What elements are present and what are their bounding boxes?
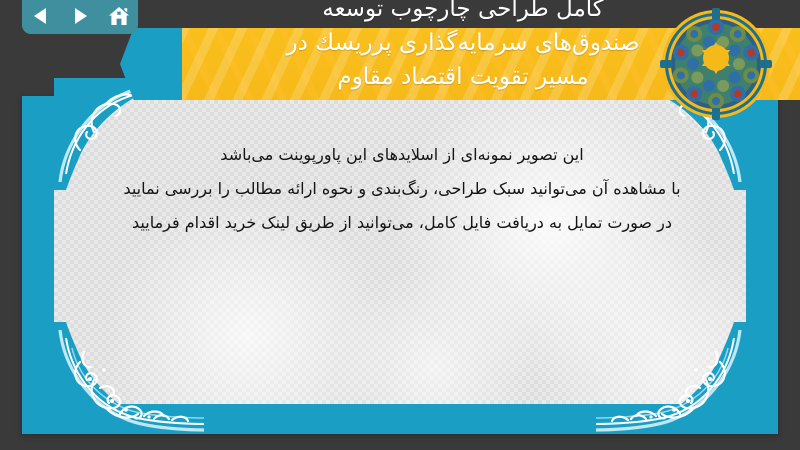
title-band-tail [120, 28, 182, 100]
slide-stage: کامل طراحی چارچوب توسعه صندوق‌های سرمایه… [0, 0, 800, 450]
next-button[interactable] [67, 4, 93, 28]
navigation-bar [22, 0, 138, 34]
home-icon [108, 6, 130, 27]
content-card: این تصویر نمونه‌ای از اسلایدهای این پاور… [22, 96, 778, 434]
body-line-1: این تصویر نمونه‌ای از اسلایدهای این پاور… [82, 138, 722, 172]
previous-button[interactable] [28, 4, 54, 28]
slide-body-text: این تصویر نمونه‌ای از اسلایدهای این پاور… [82, 138, 722, 240]
persian-medallion-icon [660, 8, 772, 120]
body-line-3: در صورت تمایل به دریافت فایل کامل، می‌تو… [82, 206, 722, 240]
triangle-left-icon [31, 6, 51, 26]
triangle-right-icon [70, 6, 90, 26]
home-button[interactable] [106, 4, 132, 28]
body-line-2: با مشاهده آن می‌توانید سبک طراحی، رنگ‌بن… [82, 172, 722, 206]
